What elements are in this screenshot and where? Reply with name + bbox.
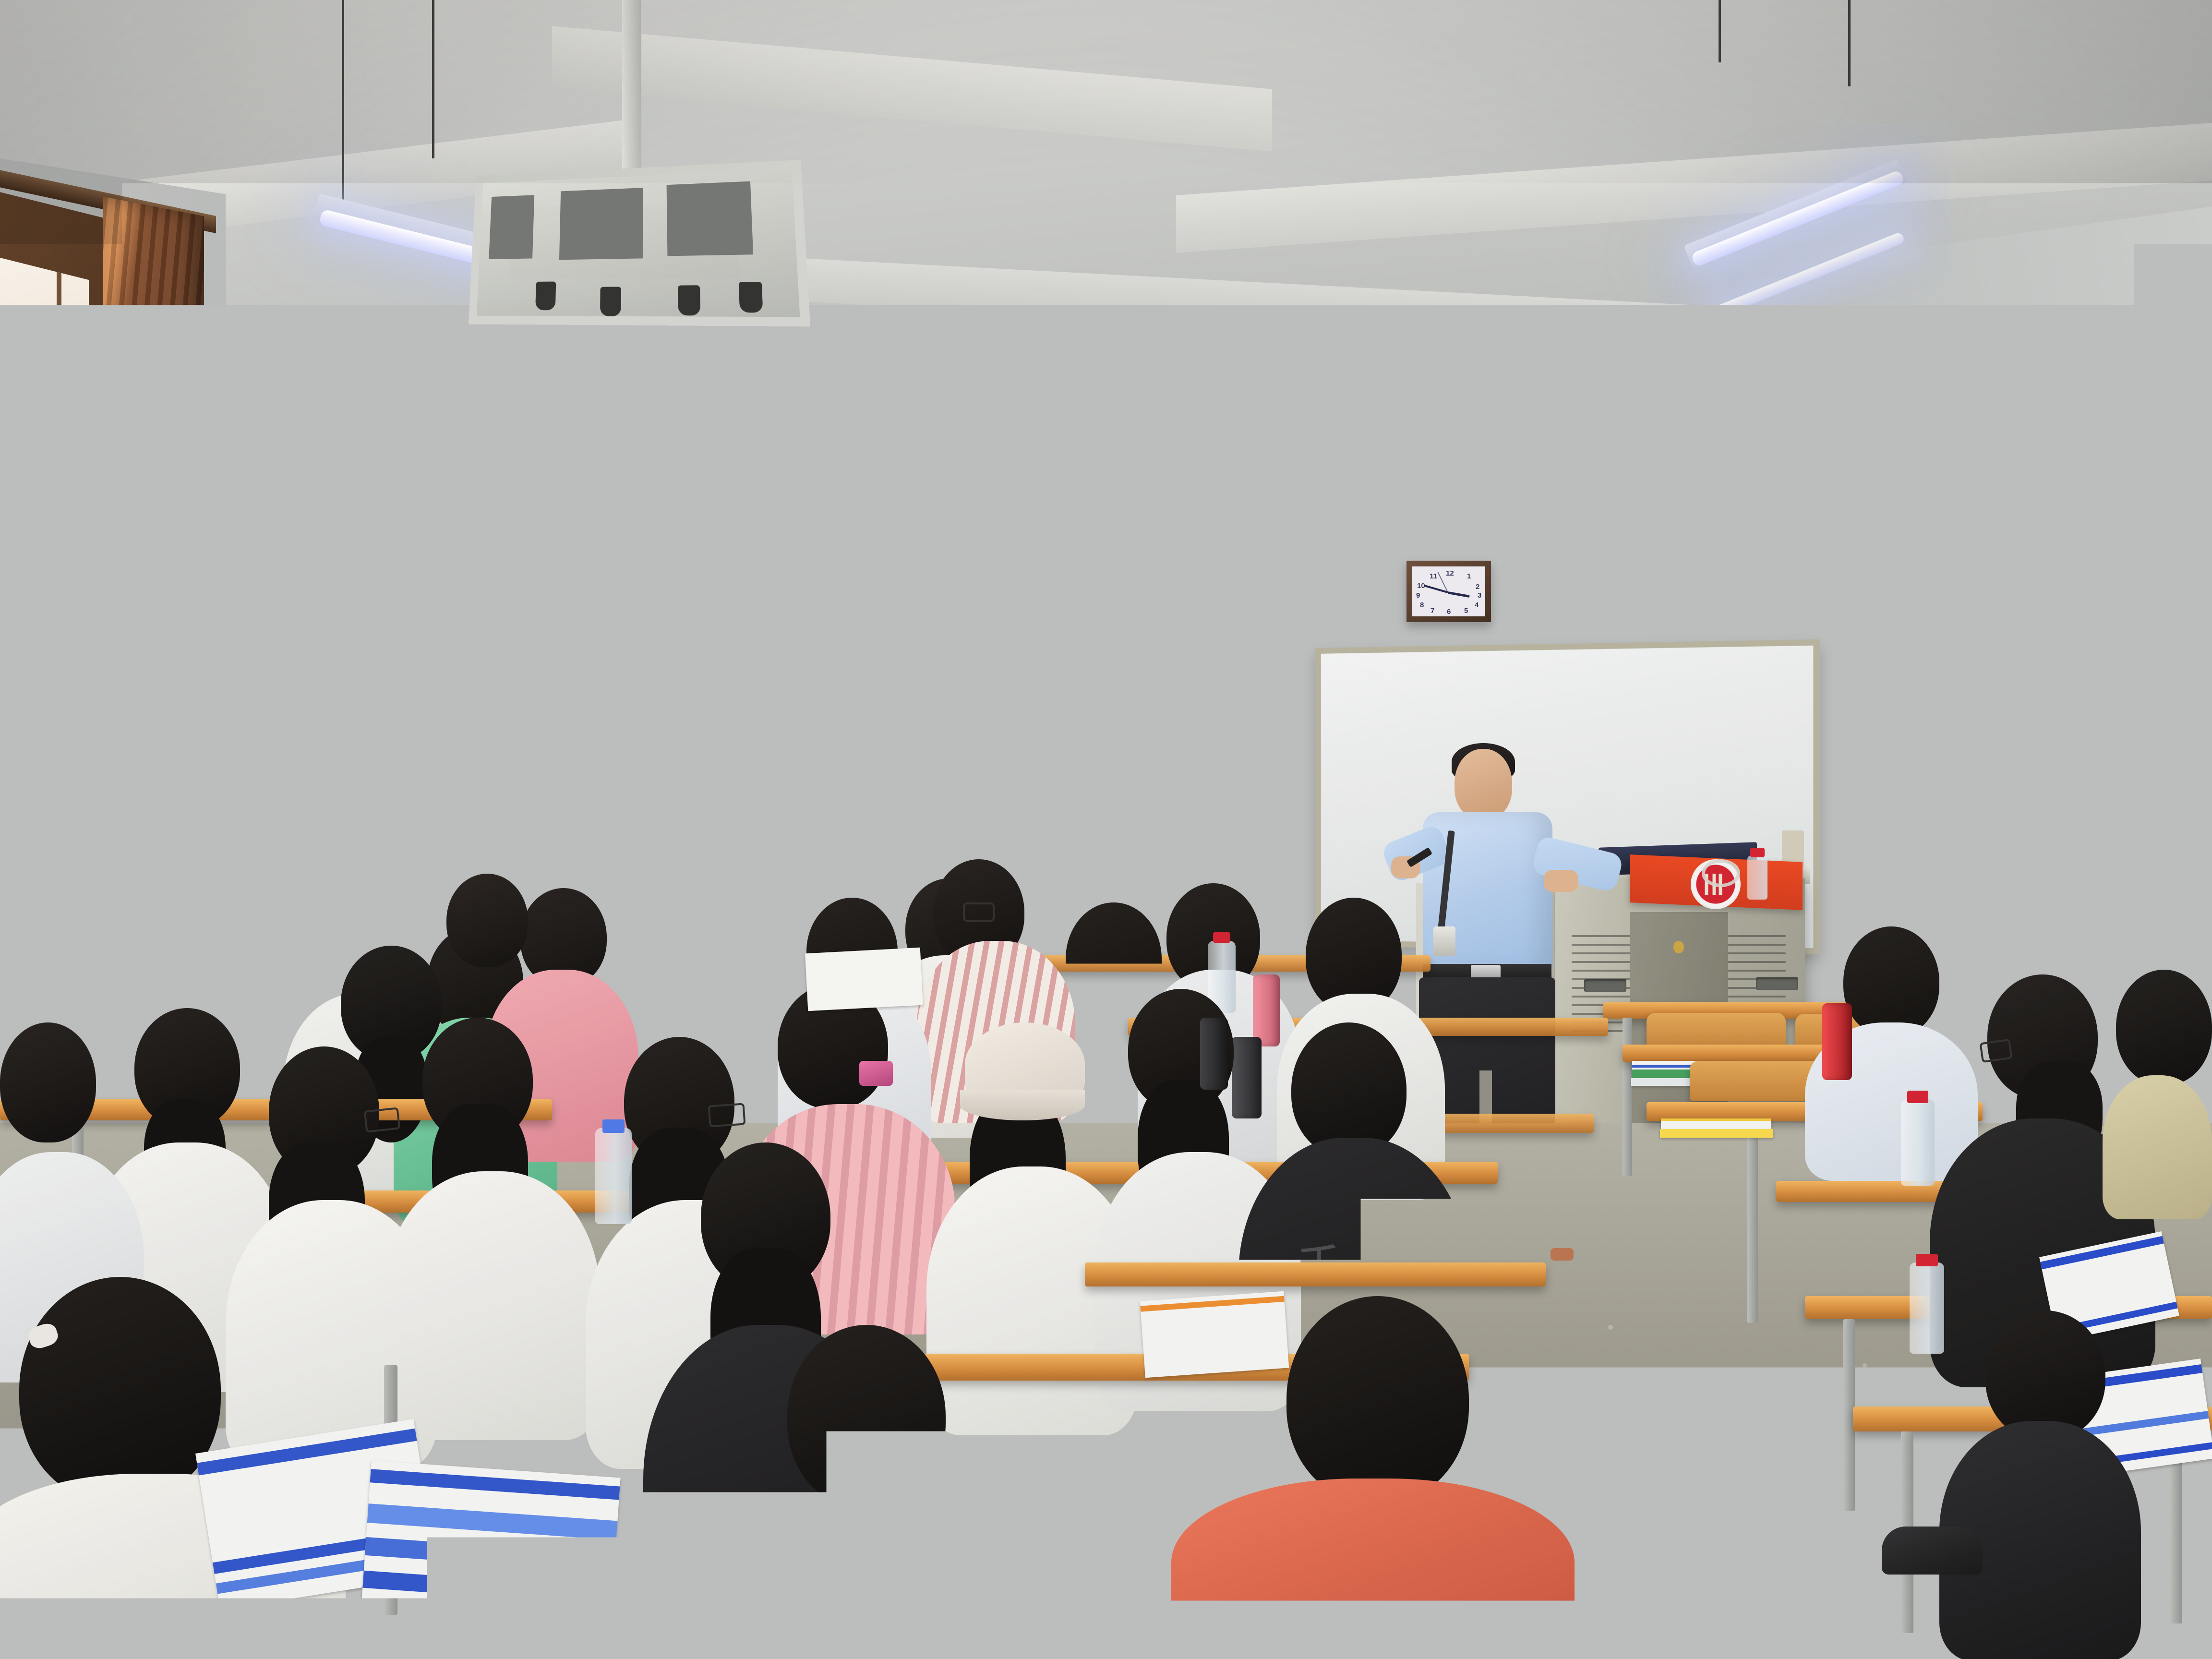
student-torso <box>1171 1479 1575 1659</box>
water-bottle <box>595 1128 632 1224</box>
eyeglasses-icon <box>364 1107 400 1132</box>
classroom-photo: MITSUBISHI 江苏师范大学 JIANGSU NORMAL UNIVERS… <box>0 0 2212 1659</box>
eyeglasses-icon <box>963 902 995 922</box>
handout-brochure <box>359 1460 620 1659</box>
wall-ceiling-joint <box>173 349 1757 355</box>
student-head <box>1291 1022 1407 1157</box>
water-bottle <box>1901 1099 1935 1186</box>
presenter-id-badge <box>1433 926 1455 956</box>
slide-title-line2: 姚昌盛教授课题组简介 <box>804 659 1236 709</box>
dome-security-camera-icon <box>302 535 350 565</box>
clock-face: 12 1 2 3 4 5 6 7 8 9 10 11 <box>1412 566 1485 616</box>
clock-number: 8 <box>1420 601 1424 609</box>
presenter-head <box>1455 749 1512 820</box>
clock-number: 9 <box>1416 591 1420 600</box>
thermos-flask <box>1253 974 1280 1046</box>
notebook <box>1140 1291 1289 1378</box>
wall-clock: 12 1 2 3 4 5 6 7 8 9 10 11 <box>1407 561 1491 622</box>
slide-date: 2019-06-24 <box>956 795 1083 819</box>
presentation-slide: 江苏师范大学 JIANGSU NORMAL UNIVERSITY 江苏师范大学 … <box>745 507 1294 914</box>
university-name-en: JIANGSU NORMAL UNIVERSITY <box>805 541 954 550</box>
university-seal-icon <box>762 516 796 550</box>
clock-number: 3 <box>1478 591 1481 600</box>
student-head <box>0 1022 96 1142</box>
wall-speaker-right <box>1950 359 2041 495</box>
eyeglasses-icon <box>708 1103 745 1127</box>
light-cord <box>342 0 344 202</box>
projector-cage <box>469 160 810 327</box>
light-cord <box>1719 0 1721 62</box>
student-head <box>1286 1296 1469 1503</box>
slide-header: 江苏师范大学 JIANGSU NORMAL UNIVERSITY <box>745 507 1294 559</box>
thermos-flask <box>1200 1018 1228 1090</box>
window-glass <box>0 258 89 587</box>
podium-water-bottle <box>1747 855 1767 900</box>
clock-number: 1 <box>1467 572 1471 580</box>
clock-number: 6 <box>1447 608 1451 616</box>
clock-number: 7 <box>1431 607 1434 615</box>
student-torso <box>2103 1075 2212 1219</box>
slide-title: 江苏师范大学 姚昌盛教授课题组简介 <box>804 612 1236 709</box>
slide-author: 姚昌盛 <box>981 753 1058 785</box>
student-head <box>19 1277 221 1503</box>
light-cord <box>432 0 434 158</box>
student-head <box>2116 970 2212 1085</box>
clock-number: 5 <box>1464 607 1468 615</box>
student-shoe <box>1882 1527 1983 1575</box>
light-cord <box>1848 0 1851 86</box>
floor-debris <box>1551 1248 1574 1261</box>
water-bottle <box>307 1315 353 1435</box>
podium-slot <box>1584 979 1626 992</box>
baseball-cap-brim <box>960 1090 1085 1120</box>
wall-speaker-left <box>258 388 345 519</box>
projection-screen: 江苏师范大学 JIANGSU NORMAL UNIVERSITY 江苏师范大学 … <box>737 499 1302 922</box>
student-head <box>446 874 528 967</box>
window-curtain <box>103 197 204 759</box>
student-head <box>1843 926 1939 1037</box>
clock-number: 2 <box>1476 583 1479 591</box>
projector-mount-pole <box>622 0 641 192</box>
slide-brand: 江苏师范大学 JIANGSU NORMAL UNIVERSITY <box>805 517 954 550</box>
student-torso <box>384 1171 600 1440</box>
desk <box>1085 1262 1546 1286</box>
smartphone[interactable] <box>859 1061 893 1086</box>
university-name-cn: 江苏师范大学 <box>805 517 954 539</box>
presenter-right-hand <box>1544 870 1578 892</box>
slide-title-line1: 江苏师范大学 <box>804 612 1236 659</box>
cable-coil <box>1702 859 1740 887</box>
wall-conduit <box>422 365 429 816</box>
screen-brand-label: MITSUBISHI <box>1236 489 1287 498</box>
podium-slot <box>1756 977 1798 990</box>
paper-sheet <box>805 948 923 1011</box>
fan-downrod <box>1168 379 1179 432</box>
handout-brochure <box>898 1447 1166 1659</box>
handout-stack <box>1660 1129 1773 1138</box>
handout-stack <box>1661 1118 1771 1129</box>
slide-body: 江苏师范大学 姚昌盛教授课题组简介 姚昌盛 2019-06-24 <box>745 559 1294 873</box>
thermos-flask <box>1822 1003 1852 1080</box>
light-cord <box>1560 346 1563 456</box>
water-bottle <box>1910 1262 1944 1354</box>
clock-number: 4 <box>1475 601 1479 609</box>
clock-number: 12 <box>1446 569 1454 577</box>
shirt-graphic <box>86 1603 139 1647</box>
thermos-flask <box>1232 1037 1262 1118</box>
eyeglasses-icon <box>1979 1039 2012 1063</box>
podium-lock-icon[interactable] <box>1673 941 1684 953</box>
clock-hour-hand <box>1448 591 1470 598</box>
clock-number: 11 <box>1430 572 1437 580</box>
